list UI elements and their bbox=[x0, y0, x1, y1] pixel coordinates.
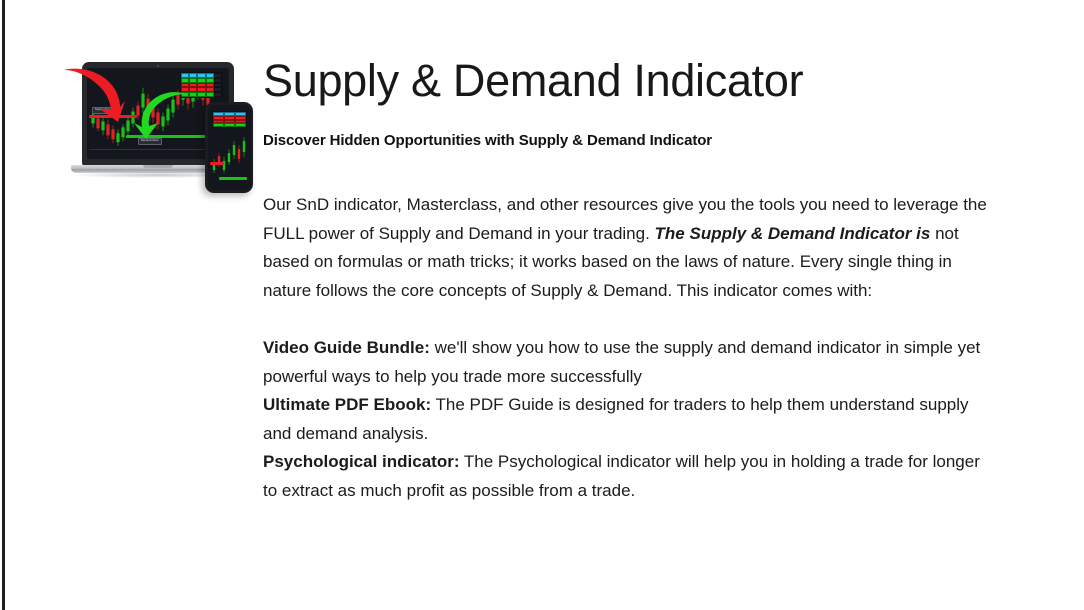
phone-candlestick-chart bbox=[208, 129, 251, 190]
indicator-cell bbox=[235, 123, 246, 127]
left-edge-bar bbox=[2, 0, 5, 610]
indicator-cell bbox=[214, 92, 222, 97]
phone-notch bbox=[222, 102, 236, 105]
indicator-row bbox=[181, 92, 222, 97]
phone-demand-zone-line bbox=[219, 177, 247, 180]
indicator-cell bbox=[197, 92, 205, 97]
feature-label: Psychological indicator: bbox=[263, 452, 460, 471]
supply-arrow-icon bbox=[62, 64, 126, 124]
indicator-cell bbox=[189, 92, 197, 97]
indicator-row bbox=[213, 123, 246, 127]
indicator-cell bbox=[206, 92, 214, 97]
feature-item-psychological-indicator: Psychological indicator: The Psychologic… bbox=[263, 448, 991, 505]
indicator-cell bbox=[224, 123, 235, 127]
intro-paragraph: Our SnD indicator, Masterclass, and othe… bbox=[263, 191, 991, 305]
laptop-base-notch bbox=[143, 165, 173, 168]
indicator-cell bbox=[213, 123, 224, 127]
demand-arrow-icon bbox=[131, 90, 187, 140]
paragraph-spacer bbox=[263, 305, 991, 334]
intro-emphasis: The Supply & Demand Indicator is bbox=[655, 224, 931, 243]
phone-mockup bbox=[205, 102, 253, 193]
product-mockup-image: Supply Zone Demand Zone bbox=[62, 48, 262, 193]
phone-supply-zone-line bbox=[210, 162, 224, 165]
page-subtitle: Discover Hidden Opportunities with Suppl… bbox=[263, 132, 712, 150]
feature-label: Video Guide Bundle: bbox=[263, 338, 430, 357]
phone-indicator-panel bbox=[212, 111, 247, 128]
feature-label: Ultimate PDF Ebook: bbox=[263, 395, 431, 414]
laptop-camera-icon bbox=[157, 65, 159, 67]
phone-screen bbox=[208, 105, 251, 190]
feature-item-video-guide: Video Guide Bundle: we'll show you how t… bbox=[263, 334, 991, 391]
page-root: Supply Zone Demand Zone bbox=[0, 0, 1084, 610]
page-title: Supply & Demand Indicator bbox=[263, 58, 803, 103]
feature-item-pdf-ebook: Ultimate PDF Ebook: The PDF Guide is des… bbox=[263, 391, 991, 448]
body-copy: Our SnD indicator, Masterclass, and othe… bbox=[263, 191, 991, 506]
